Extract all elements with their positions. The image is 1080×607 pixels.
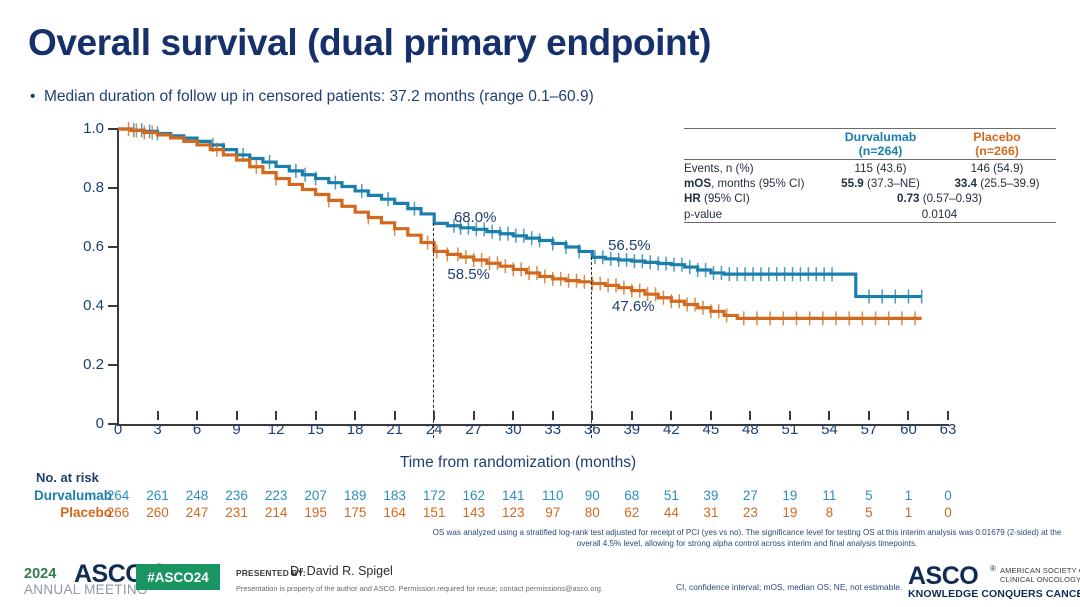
stats-label-mos-bold: mOS <box>684 177 711 190</box>
x-tick-label: 36 <box>584 421 601 438</box>
risk-value: 236 <box>225 488 248 503</box>
stats-label-hr: HR (95% CI) <box>684 191 823 206</box>
stats-label-mos: mOS, months (95% CI) <box>684 176 823 191</box>
x-tick-label: 3 <box>153 421 161 438</box>
x-tick-label: 51 <box>782 421 799 438</box>
x-tick-label: 48 <box>742 421 759 438</box>
stats-mos-placebo-bold: 33.4 <box>954 177 977 190</box>
risk-value: 247 <box>186 505 209 520</box>
presenter-name: Dr David R. Spigel <box>290 564 393 578</box>
slide-footer: 2024 ASCO ® ANNUAL MEETING #ASCO24 PRESE… <box>0 560 1080 607</box>
x-axis-title-wrap: Time from randomization (months) <box>0 454 1080 472</box>
permission-note: Presentation is property of the author a… <box>236 584 603 593</box>
asco-tagline: KNOWLEDGE CONQUERS CANCER <box>908 588 1080 600</box>
stats-events-placebo: 146 (54.9) <box>938 160 1056 176</box>
risk-value: 143 <box>462 505 485 520</box>
risk-value: 223 <box>265 488 288 503</box>
y-axis-labels: 00.20.40.60.81.0 <box>62 129 118 425</box>
risk-value: 90 <box>585 488 600 503</box>
x-tick-mark <box>117 411 119 420</box>
y-tick-label: 0 <box>64 415 104 432</box>
risk-table-title: No. at risk <box>36 470 99 485</box>
asco-logo-right-text: ASCO <box>908 562 978 591</box>
x-tick-label: 60 <box>900 421 917 438</box>
stats-hr-value: 0.73 (0.57–0.93) <box>823 191 1056 206</box>
stats-mos-durvalumab-bold: 55.9 <box>841 177 864 190</box>
risk-value: 51 <box>664 488 679 503</box>
x-tick-label: 63 <box>940 421 957 438</box>
risk-value: 97 <box>545 505 560 520</box>
risk-value: 172 <box>423 488 446 503</box>
x-tick-mark <box>907 411 909 420</box>
annotation-68-0pct: 68.0% <box>454 209 497 226</box>
annotation-58-5pct: 58.5% <box>447 266 490 283</box>
stats-row-hr: HR (95% CI) 0.73 (0.57–0.93) <box>684 191 1056 206</box>
stats-mos-placebo: 33.4 (25.5–39.9) <box>938 176 1056 191</box>
stats-row-mos: mOS, months (95% CI) 55.9 (37.3–NE) 33.4… <box>684 176 1056 191</box>
statistics-table: Durvalumab (n=264) Placebo (n=266) Event… <box>684 128 1056 223</box>
stats-label-events: Events, n (%) <box>684 160 823 176</box>
stats-mos-durvalumab: 55.9 (37.3–NE) <box>823 176 938 191</box>
x-tick-mark <box>789 411 791 420</box>
stats-label-hr-rest: (95% CI) <box>701 192 750 205</box>
x-tick-mark <box>275 411 277 420</box>
x-tick-mark <box>512 411 514 420</box>
x-tick-label: 54 <box>821 421 838 438</box>
risk-value: 141 <box>502 488 525 503</box>
risk-value: 19 <box>782 505 797 520</box>
stats-row-pvalue: p-value 0.0104 <box>684 207 1056 223</box>
risk-value: 80 <box>585 505 600 520</box>
risk-value: 151 <box>423 505 446 520</box>
x-tick-mark <box>670 411 672 420</box>
risk-value: 31 <box>703 505 718 520</box>
risk-value: 231 <box>225 505 248 520</box>
asco-society-line1: AMERICAN SOCIETY OF <box>1000 566 1080 575</box>
risk-value: 260 <box>146 505 169 520</box>
stats-header-row: Durvalumab (n=264) Placebo (n=266) <box>684 129 1056 160</box>
y-tick-label: 0.6 <box>64 238 104 255</box>
risk-value: 175 <box>344 505 367 520</box>
annotation-47-6pct: 47.6% <box>612 298 655 315</box>
x-tick-label: 42 <box>663 421 680 438</box>
stats-label-pvalue: p-value <box>684 207 823 223</box>
y-tick-label: 0.8 <box>64 179 104 196</box>
x-tick-mark <box>196 411 198 420</box>
stats-label-mos-rest: , months (95% CI) <box>711 177 804 190</box>
y-tick-label: 0.4 <box>64 297 104 314</box>
risk-row-label-durvalumab: Durvalumab <box>8 488 112 503</box>
y-tick-label: 0.2 <box>64 356 104 373</box>
x-tick-mark <box>394 411 396 420</box>
risk-value: 189 <box>344 488 367 503</box>
stats-events-durvalumab: 115 (43.6) <box>823 160 938 176</box>
risk-value: 248 <box>186 488 209 503</box>
reference-line-24mo <box>433 223 434 438</box>
x-tick-label: 24 <box>426 421 443 438</box>
stats-mos-placebo-rest: (25.5–39.9) <box>977 177 1040 190</box>
x-tick-mark <box>552 411 554 420</box>
risk-value: 261 <box>146 488 169 503</box>
stats-hr-bold: 0.73 <box>897 192 920 205</box>
x-tick-mark <box>710 411 712 420</box>
x-tick-mark <box>433 411 435 420</box>
x-tick-label: 6 <box>193 421 201 438</box>
risk-value: 1 <box>905 505 913 520</box>
stats-col-durvalumab-name: Durvalumab <box>845 130 917 144</box>
x-tick-mark <box>828 411 830 420</box>
asco-society-line2: CLINICAL ONCOLOGY <box>1000 575 1080 584</box>
x-tick-label: 30 <box>505 421 522 438</box>
risk-value: 164 <box>383 505 406 520</box>
x-tick-mark <box>315 411 317 420</box>
x-tick-mark <box>631 411 633 420</box>
stats-col-placebo-name: Placebo <box>973 130 1021 144</box>
x-tick-mark <box>591 411 593 420</box>
risk-value: 183 <box>383 488 406 503</box>
risk-value: 11 <box>822 488 836 503</box>
x-tick-label: 0 <box>114 421 122 438</box>
risk-value: 214 <box>265 505 288 520</box>
x-tick-mark <box>947 411 949 420</box>
risk-value: 123 <box>502 505 525 520</box>
x-tick-label: 21 <box>386 421 403 438</box>
risk-value: 1 <box>905 488 913 503</box>
risk-value: 207 <box>304 488 327 503</box>
stats-col-placebo-n: (n=266) <box>975 144 1019 158</box>
page-title: Overall survival (dual primary endpoint) <box>28 24 711 63</box>
risk-value: 8 <box>826 505 834 520</box>
risk-value: 0 <box>944 505 952 520</box>
stats-mos-durvalumab-rest: (37.3–NE) <box>864 177 920 190</box>
risk-value: 27 <box>743 488 758 503</box>
stats-header-blank <box>684 129 823 160</box>
stats-hr-rest: (0.57–0.93) <box>920 192 983 205</box>
hashtag-badge: #ASCO24 <box>136 564 220 590</box>
risk-value: 162 <box>462 488 485 503</box>
x-tick-label: 12 <box>268 421 285 438</box>
risk-value: 266 <box>107 505 130 520</box>
bullet-dot: • <box>30 88 44 106</box>
risk-value: 195 <box>304 505 327 520</box>
x-tick-label: 45 <box>703 421 720 438</box>
asco-year: 2024 <box>24 566 56 582</box>
risk-value: 110 <box>542 488 564 503</box>
risk-value: 68 <box>624 488 639 503</box>
annotation-56-5pct: 56.5% <box>608 237 651 254</box>
x-tick-label: 27 <box>465 421 482 438</box>
risk-value: 62 <box>624 505 639 520</box>
risk-value: 39 <box>703 488 718 503</box>
risk-value: 23 <box>743 505 758 520</box>
risk-value: 5 <box>865 488 873 503</box>
risk-value: 0 <box>944 488 952 503</box>
stats-pvalue-value: 0.0104 <box>823 207 1056 223</box>
stats-col-durvalumab-n: (n=264) <box>859 144 903 158</box>
risk-value: 264 <box>107 488 130 503</box>
risk-row-label-placebo: Placebo <box>8 505 112 520</box>
stats-col-durvalumab: Durvalumab (n=264) <box>823 129 938 160</box>
x-tick-mark <box>157 411 159 420</box>
x-tick-mark <box>868 411 870 420</box>
x-tick-mark <box>354 411 356 420</box>
x-tick-label: 33 <box>544 421 561 438</box>
slide-root: Overall survival (dual primary endpoint)… <box>0 0 1080 607</box>
stats-row-events: Events, n (%) 115 (43.6) 146 (54.9) <box>684 160 1056 176</box>
x-tick-mark <box>473 411 475 420</box>
risk-value: 19 <box>782 488 797 503</box>
x-axis-title: Time from randomization (months) <box>400 454 636 472</box>
followup-bullet: •Median duration of follow up in censore… <box>30 88 594 106</box>
risk-value: 44 <box>664 505 679 520</box>
methods-footnote: OS was analyzed using a stratified log-r… <box>432 528 1062 550</box>
stats-col-placebo: Placebo (n=266) <box>938 129 1056 160</box>
asco-registered-right-icon: ® <box>990 564 996 573</box>
x-tick-label: 18 <box>347 421 364 438</box>
y-tick-label: 1.0 <box>64 120 104 137</box>
x-tick-mark <box>236 411 238 420</box>
x-tick-mark <box>749 411 751 420</box>
asco-annual-meeting: ANNUAL MEETING <box>24 582 148 597</box>
x-tick-label: 39 <box>623 421 640 438</box>
bullet-text: Median duration of follow up in censored… <box>44 88 594 105</box>
x-tick-label: 9 <box>232 421 240 438</box>
risk-value: 5 <box>865 505 873 520</box>
stats-label-hr-bold: HR <box>684 192 701 205</box>
x-tick-label: 57 <box>861 421 878 438</box>
asco-society-name: AMERICAN SOCIETY OFCLINICAL ONCOLOGY <box>1000 566 1080 585</box>
x-tick-label: 15 <box>307 421 324 438</box>
